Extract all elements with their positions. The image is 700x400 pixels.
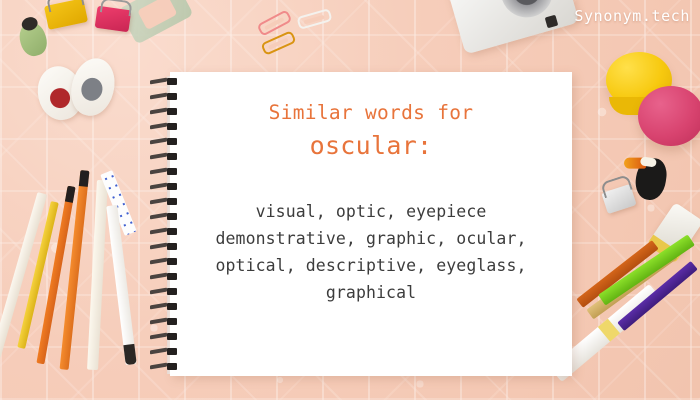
- pink-binder-clip-icon: [95, 6, 132, 33]
- synonym-line: optical, descriptive, eyeglass,: [191, 253, 551, 280]
- page-content: Similar words for oscular: visual, optic…: [170, 72, 572, 376]
- spiral-coil: [150, 93, 177, 100]
- pink-macaron-decoration: [638, 86, 700, 146]
- headword: oscular:: [310, 131, 433, 161]
- notebook: Similar words for oscular: visual, optic…: [150, 70, 572, 376]
- spiral-coil: [150, 123, 177, 130]
- spiral-coil: [150, 168, 177, 175]
- spiral-coil: [150, 348, 177, 355]
- page-heading: Similar words for: [269, 101, 474, 125]
- spiral-coil: [150, 183, 177, 190]
- site-branding: Synonym.tech: [574, 7, 690, 25]
- spiral-coil: [150, 78, 177, 85]
- spiral-coil: [150, 363, 177, 370]
- spiral-coil: [150, 288, 177, 295]
- spiral-coil: [150, 198, 177, 205]
- spiral-coil: [150, 303, 177, 310]
- spiral-coil: [150, 258, 177, 265]
- spiral-coil: [150, 243, 177, 250]
- spiral-coil: [150, 213, 177, 220]
- synonym-line: graphical: [191, 280, 551, 307]
- spiral-coil: [150, 108, 177, 115]
- spiral-coil: [150, 138, 177, 145]
- spiral-coil: [150, 153, 177, 160]
- spiral-binding: [150, 78, 180, 370]
- synonym-list: visual, optic, eyepiecedemonstrative, gr…: [191, 199, 551, 306]
- synonym-line: visual, optic, eyepiece: [191, 199, 551, 226]
- spiral-coil: [150, 273, 177, 280]
- spiral-coil: [150, 228, 177, 235]
- screenshot-canvas: Similar words for oscular: visual, optic…: [0, 0, 700, 400]
- synonym-line: demonstrative, graphic, ocular,: [191, 226, 551, 253]
- spiral-coil: [150, 318, 177, 325]
- spiral-coil: [150, 333, 177, 340]
